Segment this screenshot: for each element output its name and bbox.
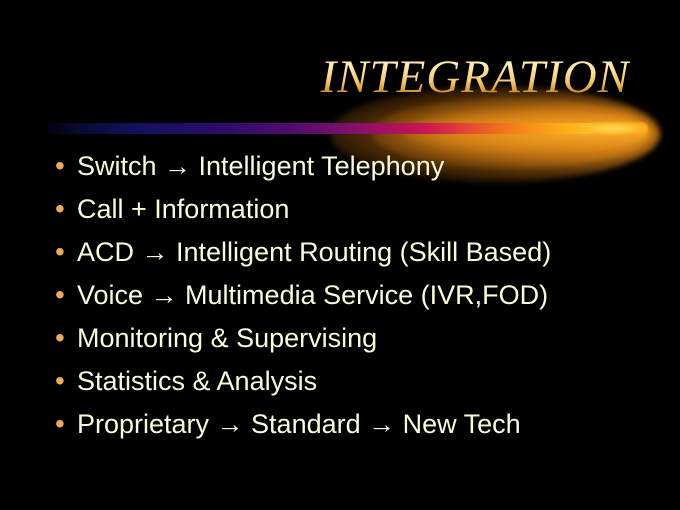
comet-halo-inner-icon [404, 109, 648, 155]
presentation-slide: INTEGRATION • Switch → Intelligent Telep… [0, 0, 680, 510]
spectrum-bar-tip-icon [590, 122, 648, 135]
slide-title: INTEGRATION [320, 54, 630, 101]
list-item: • Switch → Intelligent Telephony [55, 152, 655, 195]
bullet-dot-icon: • [55, 410, 77, 438]
bullet-dot-icon: • [55, 195, 77, 223]
bullet-dot-icon: • [55, 324, 77, 352]
list-item-label: Statistics & Analysis [77, 368, 317, 395]
list-item-label: ACD → Intelligent Routing (Skill Based) [77, 239, 551, 266]
list-item: • Call + Information [55, 195, 655, 238]
list-item-label: Call + Information [77, 196, 289, 223]
bullet-dot-icon: • [55, 238, 77, 266]
spectrum-bar-icon [48, 123, 636, 134]
bullet-dot-icon: • [55, 152, 77, 180]
bullet-dot-icon: • [55, 281, 77, 309]
bullet-dot-icon: • [55, 367, 77, 395]
list-item: • ACD → Intelligent Routing (Skill Based… [55, 238, 655, 281]
list-item: • Proprietary → Standard → New Tech [55, 410, 655, 453]
list-item-label: Monitoring & Supervising [77, 325, 377, 352]
list-item-label: Switch → Intelligent Telephony [77, 153, 444, 180]
list-item: • Monitoring & Supervising [55, 324, 655, 367]
list-item: • Voice → Multimedia Service (IVR,FOD) [55, 281, 655, 324]
bullet-list: • Switch → Intelligent Telephony • Call … [55, 152, 655, 453]
list-item-label: Proprietary → Standard → New Tech [77, 411, 521, 438]
list-item-label: Voice → Multimedia Service (IVR,FOD) [77, 282, 548, 309]
list-item: • Statistics & Analysis [55, 367, 655, 410]
